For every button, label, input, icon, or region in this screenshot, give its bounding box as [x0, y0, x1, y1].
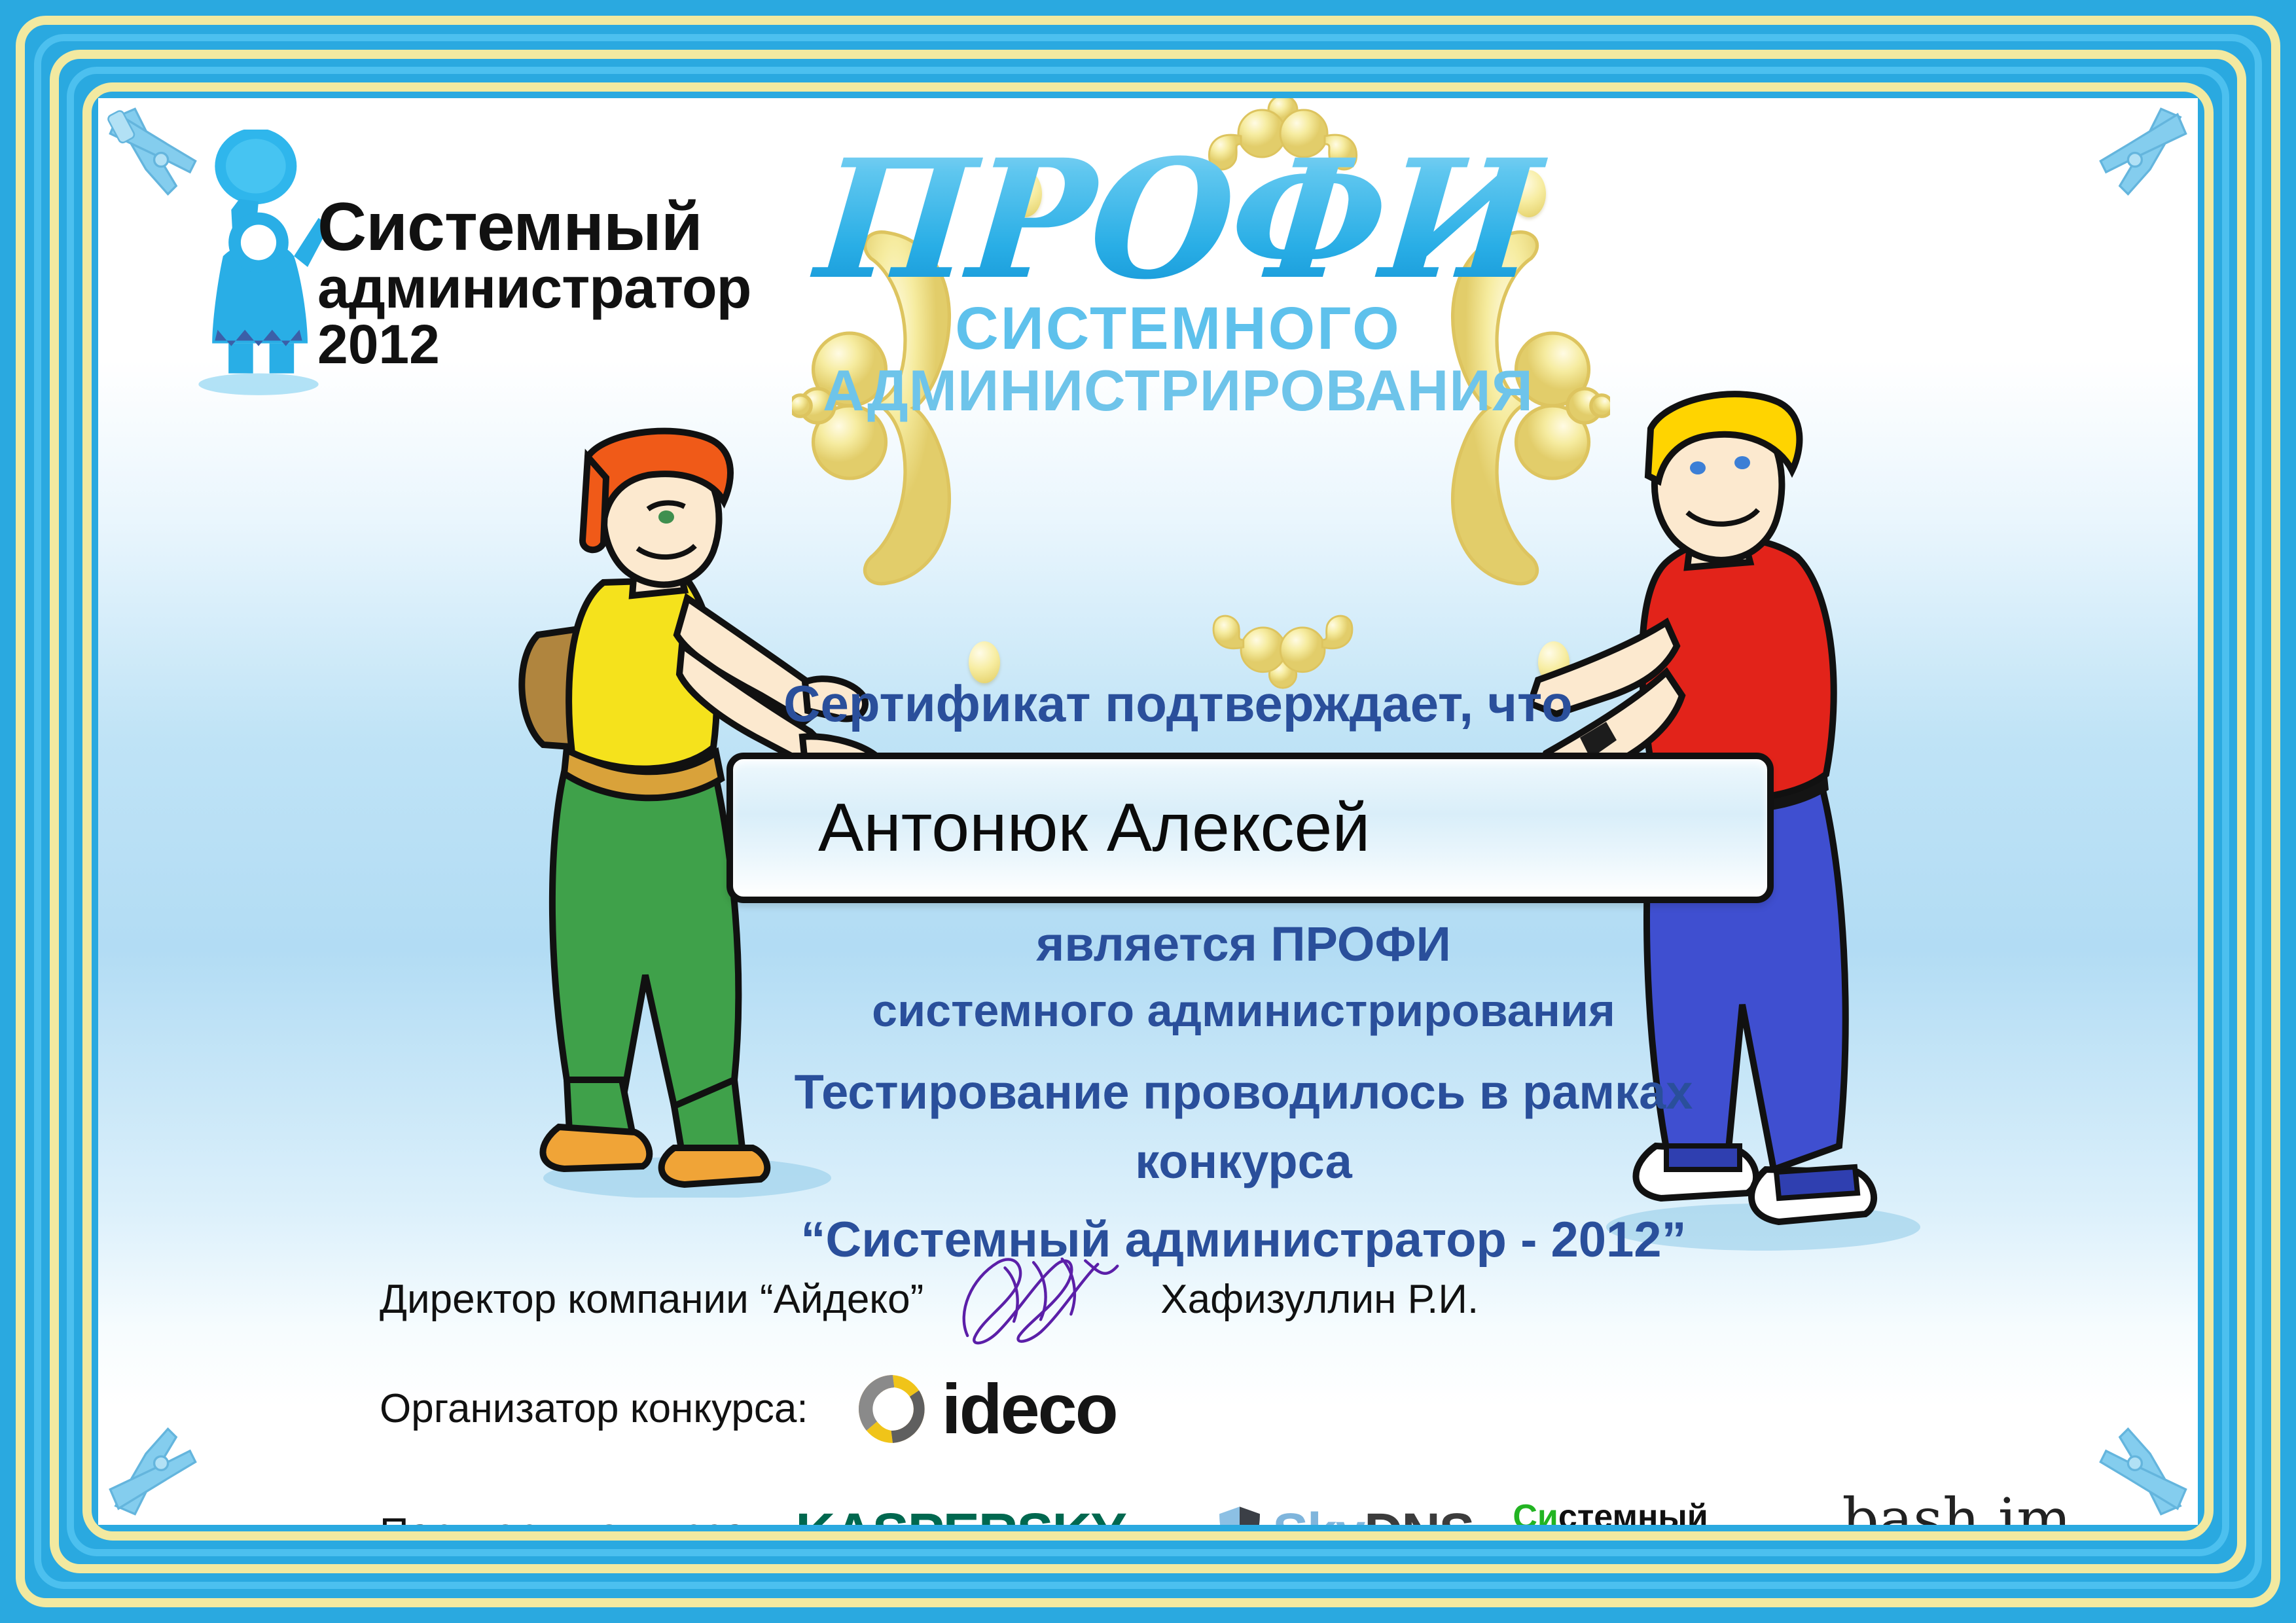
partner-sysadmin-logo: Системный администратор [1513, 1501, 1774, 1525]
event-logo-line3: 2012 [317, 317, 789, 372]
profi-title-sub2: АДМИНИСТРИРОВАНИЯ [753, 361, 1604, 421]
profi-title-block: ПРОФИ СИСТЕМНОГО АДМИНИСТРИРОВАНИЯ [753, 118, 1604, 421]
organizer-label: Организатор конкурса: [380, 1385, 808, 1432]
skydns-sky-text: Sky [1272, 1502, 1364, 1525]
profi-title-main: ПРОФИ [745, 118, 1611, 301]
partners-logo-list: KASPERSKY lab Sky DNS Системный [795, 1492, 2100, 1525]
event-logo-text: Системный администратор 2012 [317, 196, 789, 372]
partner-bashim-logo: bash.im ЦИТАТНИК РУНЕТА [1814, 1492, 2100, 1525]
certificate-body: является ПРОФИ системного администрирова… [687, 910, 1800, 1275]
recipient-name-plate: Антонюк Алексей [726, 753, 1774, 903]
eskimo-mascot-icon [177, 130, 340, 404]
kaspersky-wordmark: KASPERSKY [795, 1501, 1126, 1525]
signature-role-label: Директор компании “Айдеко” [380, 1276, 924, 1323]
event-logo-line2: администратор [317, 259, 789, 317]
skydns-dns-text: DNS [1364, 1502, 1473, 1525]
partner-kaspersky-logo: KASPERSKY lab [795, 1501, 1178, 1525]
ideco-ring-icon [854, 1370, 931, 1448]
partners-row: Партнеры конкурса: KASPERSKY lab Sky DNS [380, 1492, 2100, 1525]
sysadmin-line1-black: стемный [1558, 1498, 1708, 1525]
organizer-row: Организатор конкурса: ideco [380, 1368, 1117, 1450]
partners-label: Партнеры конкурса: [380, 1510, 757, 1525]
certificate-canvas: Системный администратор 2012 [98, 98, 2198, 1525]
confirm-line: Сертификат подтверждает, что [753, 674, 1604, 734]
handwritten-signature-icon [946, 1250, 1136, 1348]
bashim-wordmark: bash.im [1814, 1492, 2100, 1525]
event-logo: Системный администратор 2012 [177, 124, 798, 425]
sysadmin-logo-line1: Системный [1513, 1501, 1774, 1525]
ideco-logo: ideco [854, 1368, 1117, 1450]
body-line-2: системного администрирования [687, 978, 1800, 1043]
shield-icon [1217, 1505, 1262, 1525]
pliers-icon-bottom-left [105, 1382, 242, 1520]
recipient-name: Антонюк Алексей [733, 789, 1370, 867]
certificate-page: Системный администратор 2012 [0, 0, 2296, 1623]
signature-row: Директор компании “Айдеко” Хафизуллин Р.… [380, 1250, 1479, 1348]
ideco-wordmark: ideco [942, 1368, 1117, 1450]
body-line-1: является ПРОФИ [687, 910, 1800, 978]
pliers-icon-top-right [2054, 103, 2191, 241]
signer-name: Хафизуллин Р.И. [1160, 1276, 1479, 1323]
body-line-3: Тестирование проводилось в рамках конкур… [687, 1058, 1800, 1195]
sysadmin-line1-green: Си [1513, 1498, 1558, 1525]
partner-skydns-logo: Sky DNS [1217, 1502, 1473, 1525]
event-logo-line1: Системный [317, 196, 789, 259]
